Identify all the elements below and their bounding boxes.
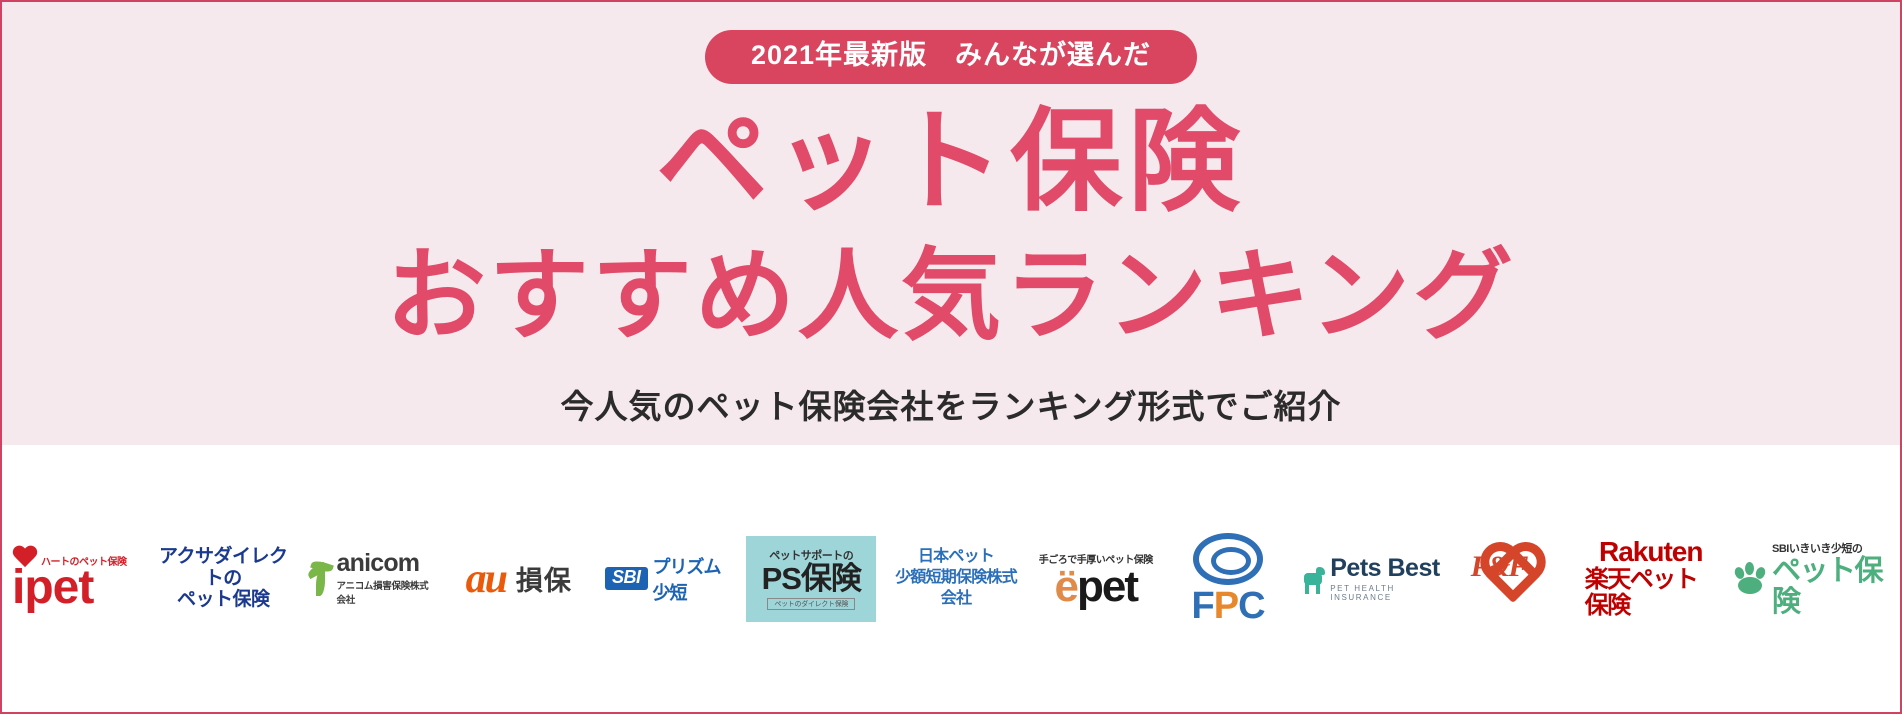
dog-icon	[1300, 564, 1326, 594]
logo-ps-foot: ペットのダイレクト保険	[767, 598, 855, 610]
logo-fpc-letter-p: P	[1214, 585, 1238, 627]
logo-ikiiki-wordmark: ペット保険	[1772, 556, 1886, 617]
headline-line-2: おすすめ人気ランキング	[386, 246, 1516, 346]
logo-ps-hoken[interactable]: ペットサポートの PS保険 ペットのダイレクト保険	[746, 536, 876, 622]
logo-sbi-sub: プリズム少短	[653, 553, 729, 605]
logo-epet-wordmark-a: ë	[1055, 567, 1077, 607]
logo-sbi-prism[interactable]: SBI プリズム少短	[605, 529, 729, 629]
logo-fpc[interactable]: FPC	[1173, 529, 1283, 629]
logo-pf-wordmark: P&F	[1458, 529, 1540, 605]
partner-logo-strip: ハートのペット保険 ipet アクサダイレクトの ペット保険 anicom アニ…	[2, 445, 1900, 712]
logo-axa-direct[interactable]: アクサダイレクトの ペット保険	[157, 529, 289, 629]
logo-axa-line2: ペット保険	[157, 589, 289, 611]
logo-fpc-letter-c: C	[1238, 585, 1264, 627]
logo-au-wordmark: au	[466, 558, 506, 600]
logo-sbi-mark: SBI	[605, 567, 648, 590]
logo-epet[interactable]: 手ごろで手厚いペット保険 ë pet	[1036, 529, 1156, 629]
logo-rakuten-pet[interactable]: Rakuten 楽天ペット保険	[1585, 529, 1717, 629]
logo-nihonpet-line1: 日本ペット	[894, 547, 1019, 568]
logo-fpc-letter-f: F	[1191, 585, 1213, 627]
hero-subtitle: 今人気のペット保険会社をランキング形式でご紹介	[560, 380, 1341, 428]
logo-nihonpet-line2: 少額短期保険株式会社	[894, 568, 1019, 610]
logo-epet-wordmark-b: pet	[1077, 567, 1137, 607]
logo-pets-best[interactable]: Pets Best PET HEALTH INSURANCE	[1300, 529, 1440, 629]
logo-ikiiki-tagline: SBIいきいき少短の	[1772, 540, 1862, 556]
hero-section: 2021年最新版 みんなが選んだ ペット保険 おすすめ人気ランキング 今人気のペ…	[2, 2, 1900, 445]
logo-au-sub: 損保	[516, 559, 572, 598]
headline-line-1: ペット保険	[656, 106, 1246, 218]
logo-ipet[interactable]: ハートのペット保険 ipet	[12, 529, 140, 629]
logo-ipet-wordmark: ipet	[12, 564, 93, 612]
logo-sbi-ikiiki[interactable]: SBIいきいき少短の ペット保険	[1734, 529, 1886, 629]
leaf-icon	[307, 562, 333, 596]
paw-icon	[1734, 562, 1768, 596]
logo-anicom-sub: アニコム損害保険株式会社	[337, 578, 433, 606]
logo-nihon-pet[interactable]: 日本ペット 少額短期保険株式会社	[894, 529, 1019, 629]
logo-au-sonpo[interactable]: au 損保	[450, 529, 588, 629]
logo-petsbest-wordmark: Pets Best	[1330, 556, 1439, 581]
logo-axa-line1: アクサダイレクトの	[157, 546, 289, 590]
fpc-swirl-icon	[1193, 533, 1263, 585]
logo-anicom-wordmark: anicom	[337, 551, 420, 576]
logo-anicom[interactable]: anicom アニコム損害保険株式会社	[307, 529, 433, 629]
heart-icon	[12, 546, 38, 570]
logo-rakuten-sub: 楽天ペット保険	[1585, 567, 1717, 620]
logo-rakuten-wordmark: Rakuten	[1599, 537, 1702, 566]
logo-petsbest-sub: PET HEALTH INSURANCE	[1330, 584, 1440, 602]
badge-2021-latest: 2021年最新版 みんなが選んだ	[705, 30, 1197, 84]
logo-ps-wordmark: PS保険	[762, 563, 861, 596]
logo-pf[interactable]: P&F	[1458, 529, 1568, 629]
pet-insurance-ranking-banner: 2021年最新版 みんなが選んだ ペット保険 おすすめ人気ランキング 今人気のペ…	[0, 0, 1902, 714]
